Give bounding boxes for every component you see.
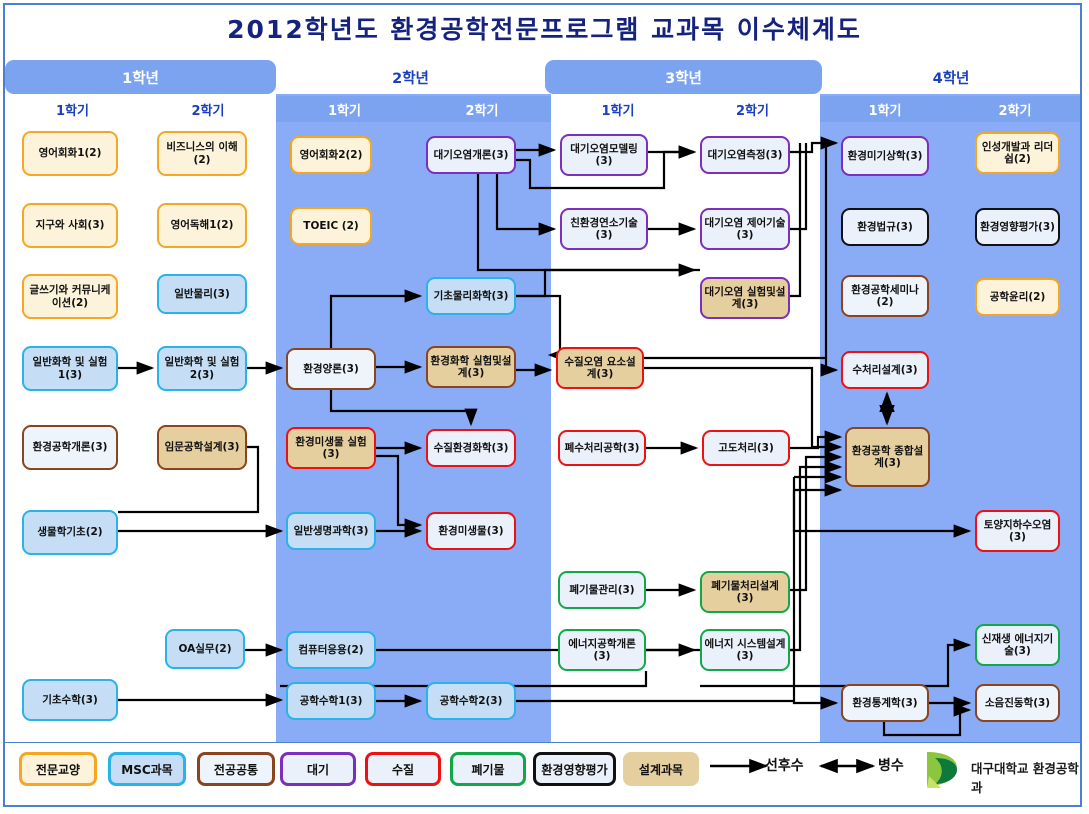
course-label: 대기오염측정(3) bbox=[708, 149, 783, 161]
course-node[interactable]: OA실무(2) bbox=[165, 629, 245, 669]
semester-header-5: 1학기 bbox=[551, 96, 685, 122]
legend-chip: 설계과목 bbox=[623, 752, 699, 786]
course-label: 환경영향평가(3) bbox=[980, 221, 1055, 233]
course-node[interactable]: 환경공학개론(3) bbox=[22, 425, 118, 470]
course-node[interactable]: 환경화학 실험및설계(3) bbox=[426, 346, 516, 388]
course-label: 폐수처리공학(3) bbox=[565, 442, 640, 454]
course-node[interactable]: 대기오염측정(3) bbox=[700, 136, 790, 174]
course-label: 대기오염 제어기술(3) bbox=[704, 217, 786, 242]
org-name-label: 대구대학교 환경공학과 bbox=[971, 758, 1080, 796]
curriculum-flowchart-page: 2012학년도 환경공학전문프로그램 교과목 이수체계도 1학년 2학년 3학년… bbox=[0, 0, 1089, 814]
course-label: 공학수학1(3) bbox=[300, 695, 363, 707]
course-node[interactable]: 생물학기초(2) bbox=[22, 510, 118, 555]
course-node[interactable]: 토양지하수오염(3) bbox=[975, 510, 1060, 552]
year-band-1: 1학년 bbox=[5, 60, 276, 94]
course-node[interactable]: 공학윤리(2) bbox=[975, 278, 1060, 316]
course-label: 환경미생물 실험(3) bbox=[290, 436, 372, 461]
course-label: 에너지공학개론(3) bbox=[562, 638, 642, 663]
course-node[interactable]: 영어회화1(2) bbox=[22, 131, 118, 176]
semester-header-3: 1학기 bbox=[276, 96, 413, 122]
legend-chip: 환경영향평가 bbox=[533, 752, 616, 786]
course-node[interactable]: 대기오염모델링(3) bbox=[560, 134, 648, 176]
course-label: 환경미기상학(3) bbox=[848, 150, 923, 162]
course-label: TOEIC (2) bbox=[303, 220, 358, 232]
course-label: 환경공학 종합설계(3) bbox=[849, 445, 926, 470]
course-label: 환경공학세미나(2) bbox=[845, 284, 925, 309]
course-node[interactable]: 환경미생물(3) bbox=[426, 512, 516, 550]
course-node[interactable]: TOEIC (2) bbox=[290, 207, 372, 245]
course-node[interactable]: 수질환경화학(3) bbox=[426, 429, 516, 467]
course-node[interactable]: 환경통계학(3) bbox=[841, 684, 929, 722]
course-label: 임문공학설계(3) bbox=[165, 441, 240, 453]
course-node[interactable]: 소음진동학(3) bbox=[975, 684, 1060, 722]
course-node[interactable]: 수질오염 요소설계(3) bbox=[556, 347, 644, 389]
legend-chip: 수질 bbox=[365, 752, 441, 786]
course-label: 폐기물처리설계(3) bbox=[704, 580, 786, 605]
course-node[interactable]: 환경양론(3) bbox=[286, 348, 376, 390]
course-node[interactable]: 영어회화2(2) bbox=[290, 136, 372, 174]
semester-header-1: 1학기 bbox=[5, 96, 140, 122]
course-label: OA실무(2) bbox=[179, 643, 232, 655]
legend-chip: MSC과목 bbox=[108, 752, 186, 786]
course-node[interactable]: 비즈니스의 이해(2) bbox=[157, 131, 247, 176]
legend-coreq-label: 병수 bbox=[878, 755, 904, 775]
course-label: 일반물리(3) bbox=[174, 288, 230, 300]
course-node[interactable]: 지구와 사회(3) bbox=[22, 203, 118, 248]
course-label: 공학수학2(3) bbox=[440, 695, 503, 707]
course-label: 글쓰기와 커뮤니케이션(2) bbox=[26, 284, 114, 309]
course-label: 지구와 사회(3) bbox=[36, 219, 105, 231]
semester-header-7: 1학기 bbox=[820, 96, 950, 122]
legend-chip-label: 대기 bbox=[307, 761, 329, 778]
course-node[interactable]: 임문공학설계(3) bbox=[157, 425, 247, 470]
course-label: 대기오염개론(3) bbox=[434, 149, 509, 161]
course-label: 환경공학개론(3) bbox=[33, 441, 108, 453]
course-node[interactable]: 일반물리(3) bbox=[157, 274, 247, 314]
course-node[interactable]: 컴퓨터응용(2) bbox=[286, 631, 376, 669]
course-label: 소음진동학(3) bbox=[985, 697, 1050, 709]
legend-prereq-label: 선후수 bbox=[765, 755, 804, 775]
course-node[interactable]: 대기오염개론(3) bbox=[426, 136, 516, 174]
course-node[interactable]: 기초물리화학(3) bbox=[426, 277, 516, 315]
course-node[interactable]: 영어독해1(2) bbox=[157, 203, 247, 248]
course-node[interactable]: 환경미생물 실험(3) bbox=[286, 427, 376, 469]
course-node[interactable]: 글쓰기와 커뮤니케이션(2) bbox=[22, 274, 118, 319]
course-label: 환경화학 실험및설계(3) bbox=[430, 355, 512, 380]
course-label: 영어회화2(2) bbox=[300, 149, 363, 161]
course-label: 고도처리(3) bbox=[718, 442, 774, 454]
course-node[interactable]: 폐기물처리설계(3) bbox=[700, 571, 790, 613]
course-label: 공학윤리(2) bbox=[990, 291, 1046, 303]
legend-chip: 폐기물 bbox=[450, 752, 526, 786]
semester-header-8: 2학기 bbox=[950, 96, 1080, 122]
course-node[interactable]: 공학수학2(3) bbox=[426, 682, 516, 720]
course-label: 기초물리화학(3) bbox=[434, 290, 509, 302]
page-title: 2012학년도 환경공학전문프로그램 교과목 이수체계도 bbox=[0, 10, 1089, 46]
course-label: 환경미생물(3) bbox=[438, 525, 503, 537]
legend-chip-label: 설계과목 bbox=[639, 761, 683, 778]
course-label: 대기오염 실험및설계(3) bbox=[704, 286, 786, 311]
course-label: 수질오염 요소설계(3) bbox=[560, 356, 640, 381]
course-label: 비즈니스의 이해(2) bbox=[161, 141, 243, 166]
course-node[interactable]: 기초수학(3) bbox=[22, 679, 118, 721]
course-node[interactable]: 환경법규(3) bbox=[841, 208, 929, 246]
course-label: 친환경연소기술(3) bbox=[564, 217, 644, 242]
course-node[interactable]: 고도처리(3) bbox=[702, 430, 790, 466]
course-label: 환경법규(3) bbox=[857, 221, 913, 233]
course-label: 일반화학 및 실험2(3) bbox=[161, 356, 243, 381]
course-node[interactable]: 폐수처리공학(3) bbox=[558, 430, 646, 466]
course-node[interactable]: 환경공학세미나(2) bbox=[841, 275, 929, 317]
course-label: 환경통계학(3) bbox=[852, 697, 917, 709]
course-label: 수질환경화학(3) bbox=[434, 442, 509, 454]
year-band-4: 4학년 bbox=[822, 60, 1080, 94]
course-label: 일반생명과학(3) bbox=[294, 525, 369, 537]
legend-chip: 대기 bbox=[280, 752, 356, 786]
course-label: 영어회화1(2) bbox=[39, 147, 102, 159]
course-node[interactable]: 일반화학 및 실험2(3) bbox=[157, 346, 247, 391]
course-node[interactable]: 일반생명과학(3) bbox=[286, 512, 376, 550]
legend-chip: 전공공통 bbox=[197, 752, 275, 786]
course-label: 수처리설계(3) bbox=[852, 364, 917, 376]
course-node[interactable]: 폐기물관리(3) bbox=[558, 571, 646, 609]
course-node[interactable]: 친환경연소기술(3) bbox=[560, 208, 648, 250]
legend-chip: 전문교양 bbox=[19, 752, 97, 786]
year-band-3: 3학년 bbox=[545, 60, 822, 94]
legend-bar: 전문교양MSC과목전공공통대기수질폐기물환경영향평가설계과목 선후수 병수 bbox=[5, 742, 1080, 805]
course-label: 폐기물관리(3) bbox=[569, 584, 634, 596]
university-logo-icon bbox=[921, 746, 967, 790]
course-node[interactable]: 인성개발과 리더쉽(2) bbox=[975, 132, 1060, 174]
year-band-2: 2학년 bbox=[276, 60, 545, 94]
legend-chip-label: 수질 bbox=[392, 761, 414, 778]
course-label: 에너지 시스템설계(3) bbox=[704, 638, 786, 663]
course-label: 기초수학(3) bbox=[42, 694, 98, 706]
course-node[interactable]: 공학수학1(3) bbox=[286, 682, 376, 720]
legend-chip-label: 환경영향평가 bbox=[541, 761, 607, 778]
course-label: 환경양론(3) bbox=[303, 363, 359, 375]
course-label: 컴퓨터응용(2) bbox=[298, 644, 363, 656]
course-label: 일반화학 및 실험1(3) bbox=[26, 356, 114, 381]
legend-chip-label: 전공공통 bbox=[214, 761, 258, 778]
course-node[interactable]: 대기오염 제어기술(3) bbox=[700, 208, 790, 250]
legend-chip-label: MSC과목 bbox=[121, 761, 172, 778]
semester-header-4: 2학기 bbox=[413, 96, 551, 122]
course-node[interactable]: 수처리설계(3) bbox=[841, 351, 929, 389]
course-node[interactable]: 일반화학 및 실험1(3) bbox=[22, 346, 118, 391]
course-node[interactable]: 에너지 시스템설계(3) bbox=[700, 629, 790, 671]
course-label: 신재생 에너지기술(3) bbox=[979, 633, 1056, 658]
course-node[interactable]: 에너지공학개론(3) bbox=[558, 629, 646, 671]
course-node[interactable]: 환경공학 종합설계(3) bbox=[845, 427, 930, 487]
semester-header-6: 2학기 bbox=[685, 96, 820, 122]
course-node[interactable]: 환경미기상학(3) bbox=[841, 136, 929, 176]
course-label: 영어독해1(2) bbox=[171, 219, 234, 231]
semester-header-2: 2학기 bbox=[140, 96, 276, 122]
course-label: 대기오염모델링(3) bbox=[564, 143, 644, 168]
course-label: 토양지하수오염(3) bbox=[979, 519, 1056, 544]
course-node[interactable]: 환경영향평가(3) bbox=[975, 208, 1060, 246]
course-node[interactable]: 대기오염 실험및설계(3) bbox=[700, 277, 790, 319]
course-label: 생물학기초(2) bbox=[37, 526, 102, 538]
legend-chip-label: 폐기물 bbox=[471, 761, 504, 778]
course-label: 인성개발과 리더쉽(2) bbox=[979, 141, 1056, 166]
course-node[interactable]: 신재생 에너지기술(3) bbox=[975, 624, 1060, 666]
legend-chip-label: 전문교양 bbox=[36, 761, 80, 778]
